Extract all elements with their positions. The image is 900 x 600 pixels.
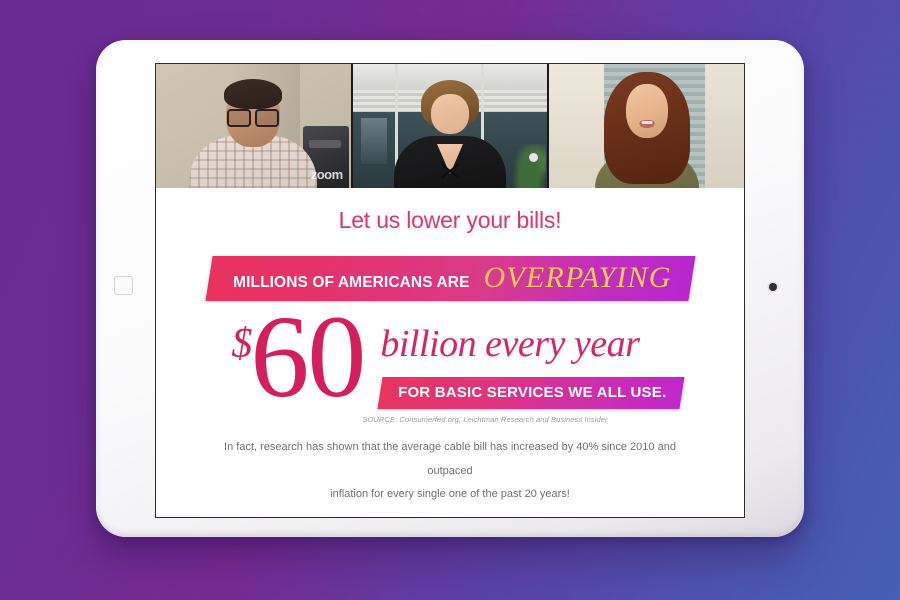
participant-3-face — [626, 84, 668, 138]
body-paragraph: In fact, research has shown that the ave… — [210, 436, 690, 507]
window-light-glow — [361, 118, 387, 164]
page-headline: Let us lower your bills! — [156, 207, 744, 234]
figure-right-group: billion every year FOR BASIC SERVICES WE… — [380, 307, 682, 409]
zoom-watermark: zoom — [311, 167, 343, 182]
banner-overpaying-inner: MILLIONS OF AMERICANS ARE OVERPAYING — [233, 264, 672, 292]
figure-amount: 60 — [250, 307, 364, 406]
big-figure-row: $ 60 billion every year FOR BASIC SERVIC… — [156, 307, 744, 409]
cta-button[interactable] — [357, 517, 543, 518]
banner-basic-services-inner: FOR BASIC SERVICES WE ALL USE. — [398, 384, 666, 401]
video-tile-participant-2[interactable] — [353, 64, 550, 188]
tablet-screen: zoom — [155, 63, 745, 518]
banner-basic-services: FOR BASIC SERVICES WE ALL USE. — [378, 377, 685, 409]
video-call-strip: zoom — [156, 64, 744, 188]
front-camera-icon — [769, 283, 777, 291]
wall-left — [549, 64, 604, 188]
banner-overpaying-row: MILLIONS OF AMERICANS ARE OVERPAYING — [156, 256, 744, 301]
banner-basic-services-text: FOR BASIC SERVICES WE ALL USE. — [398, 384, 666, 401]
figure-unit-text: billion every year — [380, 325, 682, 363]
cta-row — [156, 517, 744, 518]
tablet-device: zoom — [96, 40, 804, 537]
paragraph-line-2: inflation for every single one of the pa… — [330, 488, 570, 500]
video-tile-participant-3[interactable] — [549, 64, 744, 188]
paragraph-line-1: In fact, research has shown that the ave… — [224, 441, 676, 477]
figure-amount-group: $ 60 — [231, 307, 364, 409]
wall-right — [705, 64, 744, 188]
landing-page-content: Let us lower your bills! MILLIONS OF AME… — [156, 188, 744, 518]
banner-lead-text: MILLIONS OF AMERICANS ARE — [233, 274, 469, 292]
participant-2-face — [431, 94, 469, 134]
banner-emphasis-text: OVERPAYING — [483, 264, 671, 291]
participant-3-mouth — [639, 120, 654, 128]
source-attribution: SOURCE: Consumerfed.org, Leichtman Resea… — [156, 415, 744, 424]
participant-1-hair — [224, 79, 282, 109]
glasses-icon — [227, 109, 279, 124]
video-tile-participant-1[interactable]: zoom — [156, 64, 353, 188]
currency-symbol: $ — [231, 323, 252, 365]
office-plant — [512, 144, 546, 188]
banner-overpaying: MILLIONS OF AMERICANS ARE OVERPAYING — [205, 256, 695, 301]
home-button[interactable] — [114, 276, 133, 295]
